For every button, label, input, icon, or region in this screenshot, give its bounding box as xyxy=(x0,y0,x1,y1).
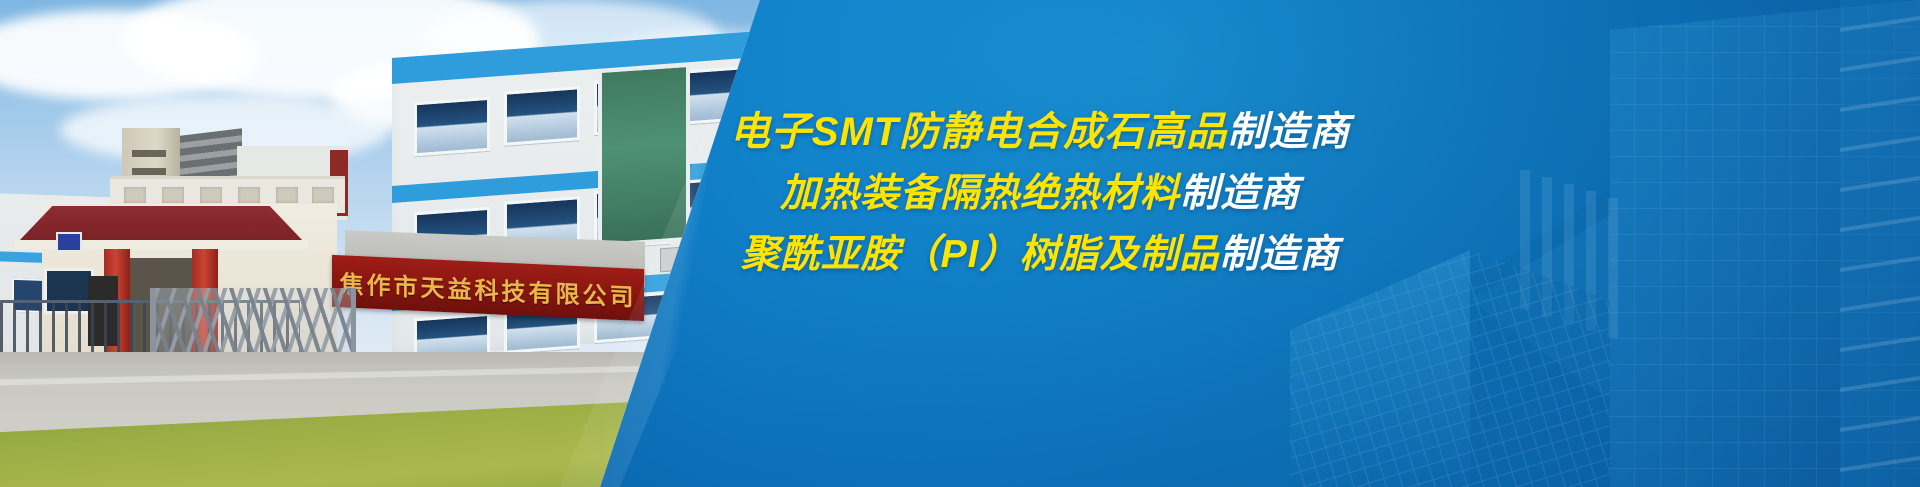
slogan-line-2-highlight: 加热装备隔热绝热材料 xyxy=(780,172,1180,215)
slogan-line-2: 加热装备隔热绝热材料制造商 xyxy=(690,174,1390,213)
hero-banner: 焦作市天益科技有限公司 电子SMT防静电合成石高品制造商 加热装备隔热绝热材料制… xyxy=(0,0,1920,487)
slogan-line-1-highlight: 电子SMT防静电合成石高品 xyxy=(730,110,1227,154)
blue-plaque xyxy=(56,232,82,252)
green-glass-wall xyxy=(598,63,690,247)
slogan-line-3-plain: 制造商 xyxy=(1219,233,1339,276)
slogan-block: 电子SMT防静电合成石高品制造商 加热装备隔热绝热材料制造商 聚酰亚胺（PI）树… xyxy=(690,112,1390,296)
slogan-line-2-plain: 制造商 xyxy=(1180,172,1300,215)
slogan-line-3: 聚酰亚胺（PI）树脂及制品制造商 xyxy=(690,235,1390,274)
slogan-line-1-plain: 制造商 xyxy=(1227,110,1350,154)
company-sign-text: 焦作市天益科技有限公司 xyxy=(340,264,637,312)
slogan-line-3-highlight: 聚酰亚胺（PI）树脂及制品 xyxy=(741,233,1220,276)
slogan-line-1: 电子SMT防静电合成石高品制造商 xyxy=(690,112,1390,152)
